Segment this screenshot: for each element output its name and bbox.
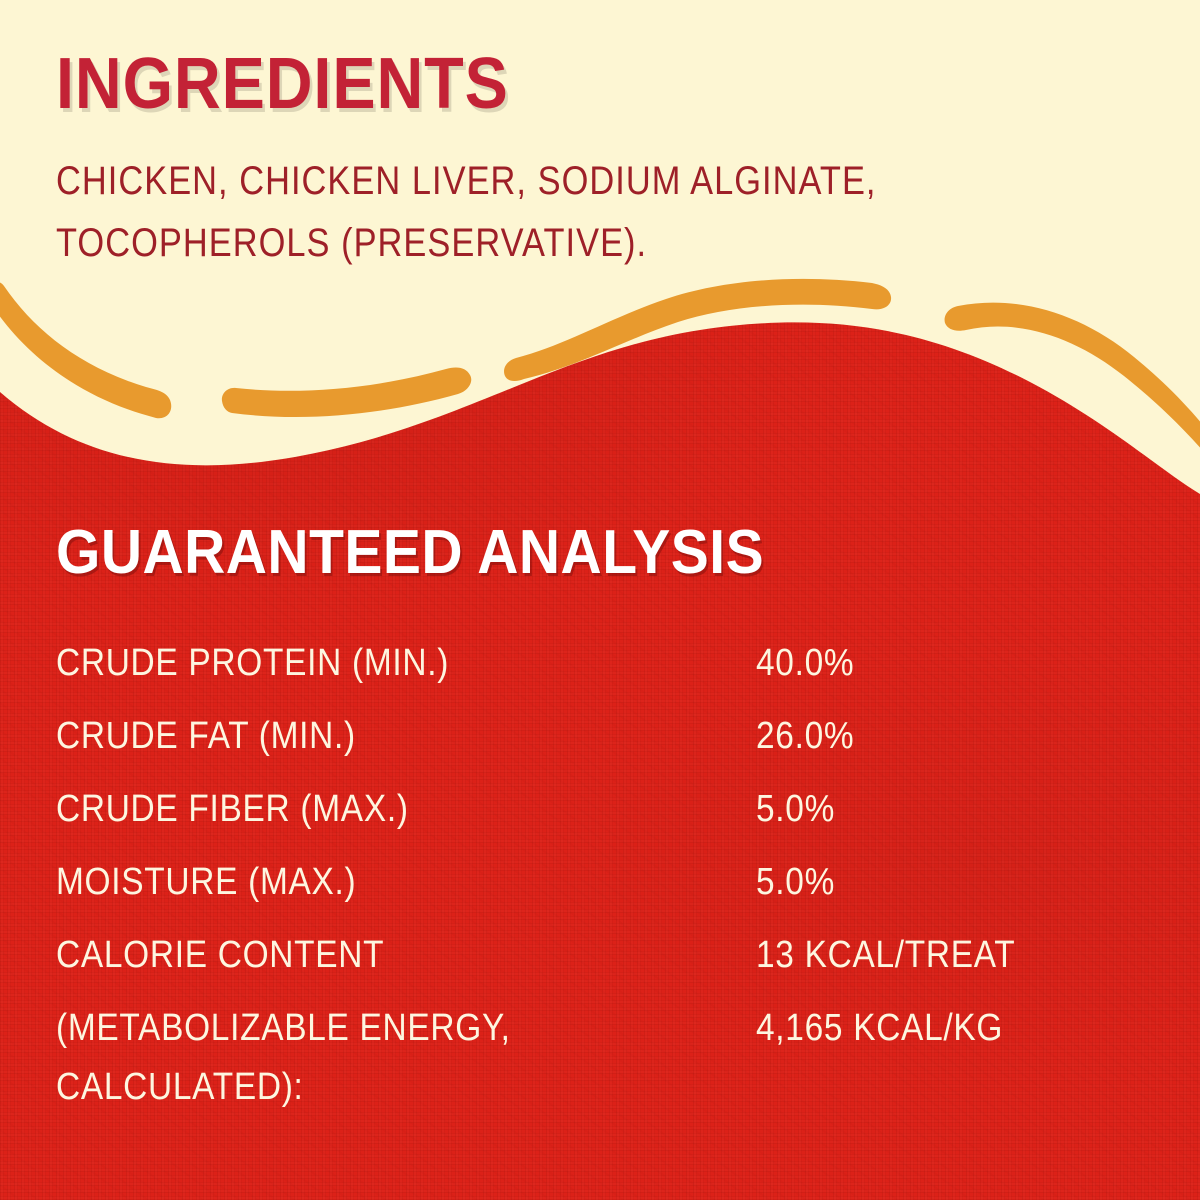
table-row: MOISTURE (MAX.) 5.0% [56, 855, 1116, 910]
table-row: CRUDE FIBER (MAX.) 5.0% [56, 782, 1116, 837]
ga-label: CRUDE FAT (MIN.) [56, 709, 672, 764]
orange-dash-1 [0, 282, 171, 419]
pet-food-label-panel: INGREDIENTS CHICKEN, CHICKEN LIVER, SODI… [0, 0, 1200, 1200]
table-row: CALORIE CONTENT 13 KCAL/TREAT [56, 928, 1116, 983]
table-row: CRUDE PROTEIN (MIN.) 40.0% [56, 636, 1116, 691]
ga-label: CRUDE FIBER (MAX.) [56, 782, 672, 837]
ingredients-text: CHICKEN, CHICKEN LIVER, SODIUM ALGINATE,… [56, 150, 1140, 274]
ga-value: 4,165 KCAL/KG [756, 1001, 1170, 1056]
orange-dash-2 [222, 367, 471, 417]
guaranteed-analysis-table: CRUDE PROTEIN (MIN.) 40.0% CRUDE FAT (MI… [56, 636, 1116, 1115]
table-row: CALCULATED): [56, 1060, 1116, 1115]
ingredients-section: INGREDIENTS CHICKEN, CHICKEN LIVER, SODI… [56, 44, 1156, 274]
ga-label: (METABOLIZABLE ENERGY, [56, 1001, 672, 1056]
ga-label: CALORIE CONTENT [56, 928, 672, 983]
table-row: (METABOLIZABLE ENERGY, 4,165 KCAL/KG [56, 1001, 1116, 1056]
ga-value: 13 KCAL/TREAT [756, 928, 1170, 983]
ga-label: CALCULATED): [56, 1060, 672, 1115]
table-row: CRUDE FAT (MIN.) 26.0% [56, 709, 1116, 764]
ingredients-heading: INGREDIENTS [56, 44, 1046, 124]
ga-value: 26.0% [756, 709, 1170, 764]
ga-value: 5.0% [756, 855, 1170, 910]
ga-label: MOISTURE (MAX.) [56, 855, 672, 910]
guaranteed-analysis-section: GUARANTEED ANALYSIS CRUDE PROTEIN (MIN.)… [56, 516, 1156, 1133]
ga-label: CRUDE PROTEIN (MIN.) [56, 636, 672, 691]
guaranteed-analysis-heading: GUARANTEED ANALYSIS [56, 516, 1068, 590]
ga-value: 40.0% [756, 636, 1170, 691]
ga-value: 5.0% [756, 782, 1170, 837]
